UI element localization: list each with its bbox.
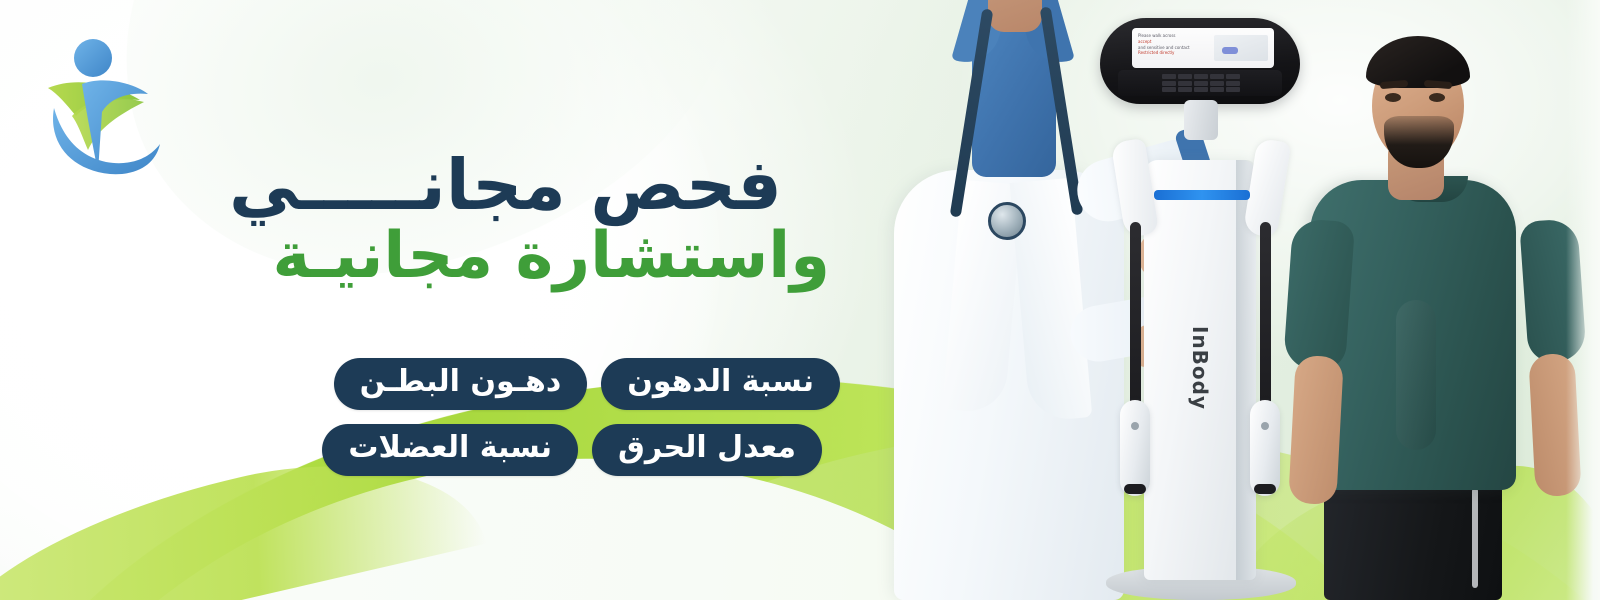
inbody-brand-label: InBody xyxy=(1188,326,1212,410)
keypad-key[interactable] xyxy=(1226,81,1240,86)
keypad-key[interactable] xyxy=(1226,87,1240,92)
client-figure xyxy=(1288,0,1588,600)
feature-pill-burn-rate[interactable]: معدل الحرق xyxy=(592,424,822,476)
grip-end-cap xyxy=(1254,484,1276,494)
feature-pill-fat-percentage[interactable]: نسبة الدهون xyxy=(601,358,840,410)
keypad-key[interactable] xyxy=(1162,74,1176,79)
machine-display-text: Please walk across accept and sensitive … xyxy=(1138,33,1210,56)
right-edge-fade xyxy=(1566,0,1600,600)
keypad-key[interactable] xyxy=(1178,81,1192,86)
keypad-key[interactable] xyxy=(1194,74,1208,79)
machine-keypad[interactable] xyxy=(1118,70,1282,96)
machine-neck xyxy=(1184,100,1218,140)
client-hair xyxy=(1366,36,1470,88)
inbody-analyzer: InBody Please walk across accept and sen… xyxy=(1088,0,1318,600)
shorts-side-stripe xyxy=(1472,488,1478,588)
headline-line-1: فحص مجانـــــي xyxy=(140,150,840,221)
promo-banner: فحص مجانـــــي واستشارة مجانيـة نسبة الد… xyxy=(0,0,1600,600)
client-eye-left xyxy=(1385,93,1401,102)
machine-console: Please walk across accept and sensitive … xyxy=(1100,18,1300,104)
tshirt-sleeve-left xyxy=(1283,218,1355,372)
feature-pill-row-1: نسبة الدهون دهـون البطـن xyxy=(140,358,840,410)
client-eye-right xyxy=(1429,93,1445,102)
tshirt-fold-shading xyxy=(1396,300,1436,450)
grip-indicator-dot xyxy=(1261,422,1269,430)
machine-hand-grip-left[interactable] xyxy=(1120,400,1150,496)
keypad-key[interactable] xyxy=(1210,74,1224,79)
keypad-key[interactable] xyxy=(1178,74,1192,79)
display-line-4: Restricted directly xyxy=(1138,50,1210,56)
keypad-key[interactable] xyxy=(1210,87,1224,92)
feature-pill-row-2: معدل الحرق نسبة العضلات xyxy=(140,424,840,476)
keypad-key[interactable] xyxy=(1178,87,1192,92)
client-arm-left xyxy=(1288,355,1344,505)
machine-blue-indicator xyxy=(1154,190,1250,200)
keypad-key[interactable] xyxy=(1162,87,1176,92)
stethoscope-chestpiece xyxy=(988,202,1026,240)
feature-pill-belly-fat[interactable]: دهـون البطـن xyxy=(334,358,588,410)
machine-key-grid[interactable] xyxy=(1162,74,1240,92)
machine-hand-grip-right[interactable] xyxy=(1250,400,1280,496)
keypad-key[interactable] xyxy=(1194,81,1208,86)
feature-pill-muscle-percentage[interactable]: نسبة العضلات xyxy=(322,424,578,476)
feature-pill-group: نسبة الدهون دهـون البطـن معدل الحرق نسبة… xyxy=(140,358,840,490)
headline-line-2: واستشارة مجانيـة xyxy=(140,221,840,293)
headline-block: فحص مجانـــــي واستشارة مجانيـة xyxy=(140,150,840,293)
grip-end-cap xyxy=(1124,484,1146,494)
machine-display[interactable]: Please walk across accept and sensitive … xyxy=(1132,28,1274,68)
body-scan-illustration xyxy=(1214,35,1268,61)
keypad-key[interactable] xyxy=(1194,87,1208,92)
keypad-key[interactable] xyxy=(1162,81,1176,86)
grip-indicator-dot xyxy=(1131,422,1139,430)
doctor-neck xyxy=(988,0,1042,32)
keypad-key[interactable] xyxy=(1210,81,1224,86)
logo-head-circle xyxy=(74,39,112,77)
keypad-key[interactable] xyxy=(1226,74,1240,79)
